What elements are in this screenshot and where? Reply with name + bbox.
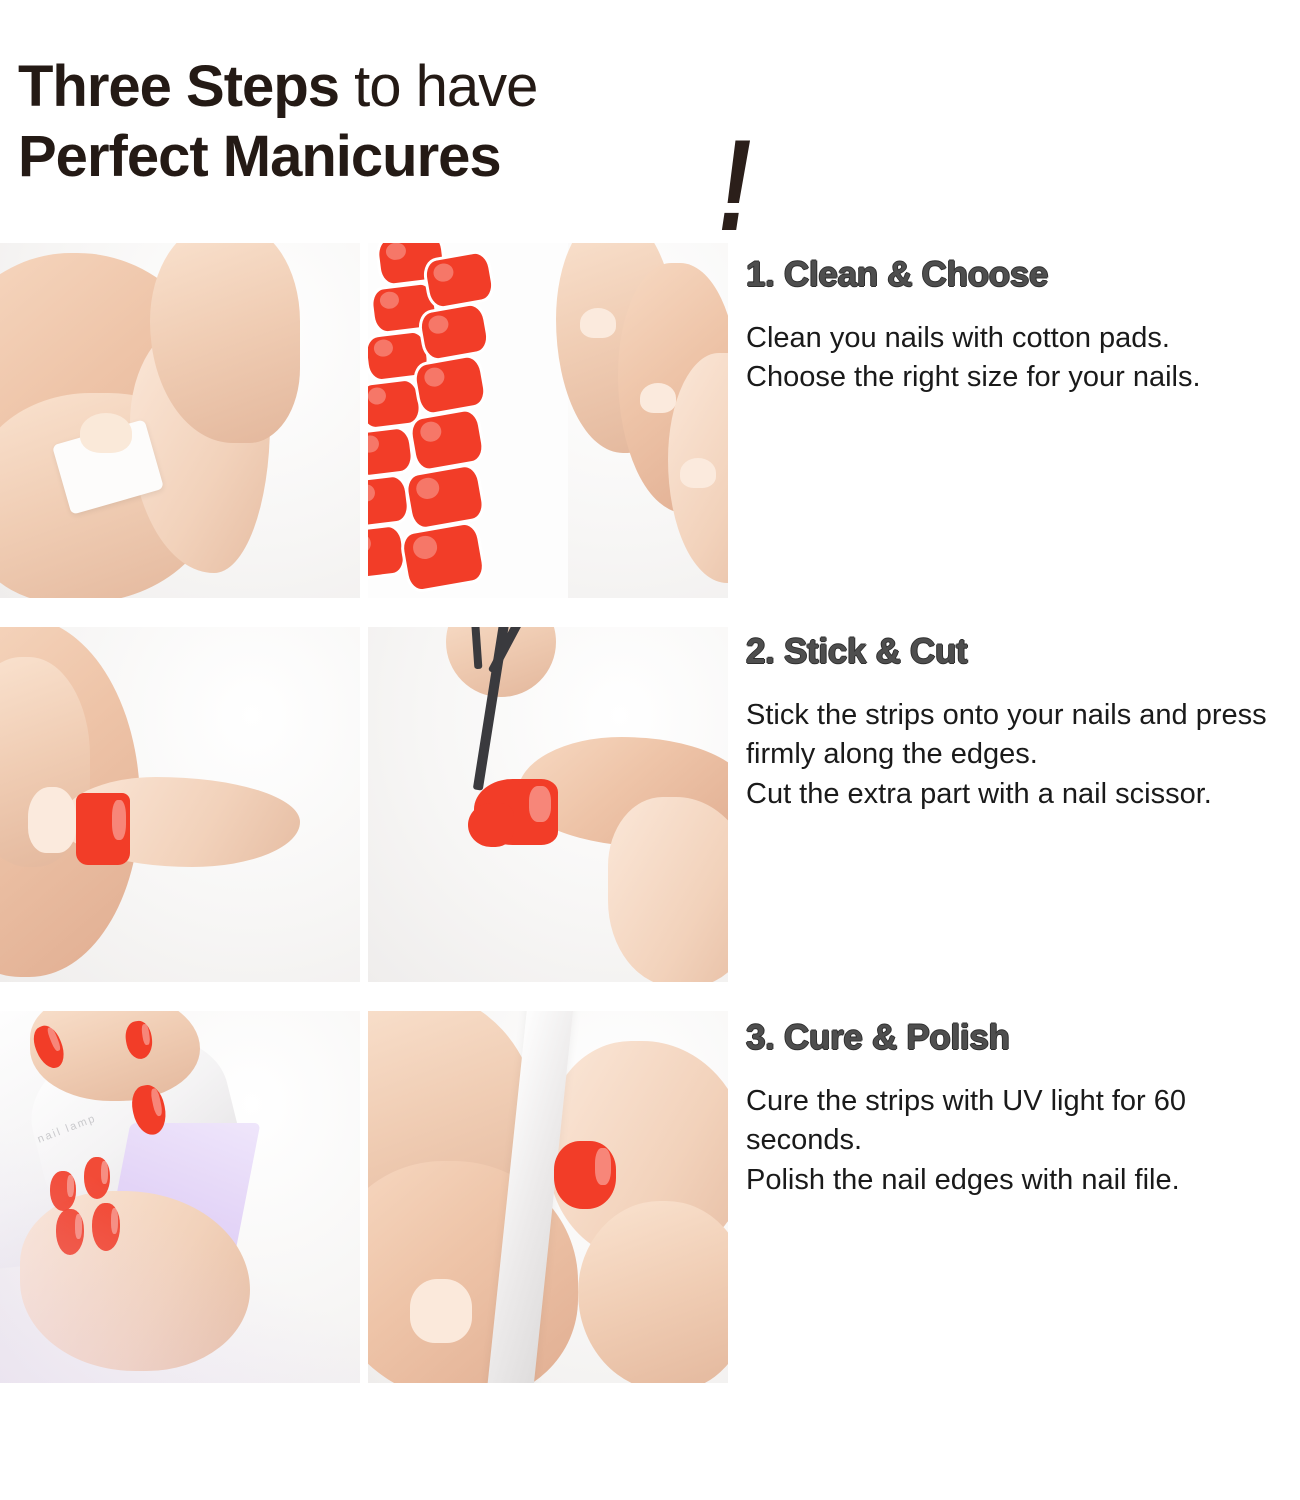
photo-grid: nail lamp <box>0 243 728 1383</box>
step-3-body: Cure the strips with UV light for 60 sec… <box>746 1082 1300 1200</box>
step-1-body: Clean you nails with cotton pads. Choose… <box>746 319 1300 398</box>
photo-polish-edges-with-file <box>368 1011 728 1383</box>
photo-cut-extra-with-scissor <box>368 627 728 982</box>
step-1-heading: 1. Clean & Choose <box>746 255 1300 295</box>
step-2-heading: 2. Stick & Cut <box>746 632 1300 672</box>
photo-stick-strip-on-nail <box>0 627 360 982</box>
step-block-1: 1. Clean & Choose Clean you nails with c… <box>746 255 1300 398</box>
photo-cure-under-uv-lamp: nail lamp <box>0 1011 360 1383</box>
step-2-body: Stick the strips onto your nails and pre… <box>746 696 1300 814</box>
page-title: Three Steps to have Perfect Manicures ! <box>18 58 838 208</box>
step-block-3: 3. Cure & Polish Cure the strips with UV… <box>746 1018 1300 1200</box>
exclamation-mark: ! <box>718 120 752 250</box>
step-3-heading: 3. Cure & Polish <box>746 1018 1300 1058</box>
photo-clean-with-cotton-pad <box>0 243 360 598</box>
title-line2-strong: Perfect Manicures <box>18 124 501 189</box>
title-line1-strong: Three Steps <box>18 54 339 119</box>
title-line1-light: to have <box>339 54 537 119</box>
step-block-2: 2. Stick & Cut Stick the strips onto you… <box>746 632 1300 814</box>
photo-choose-strip-size <box>368 243 728 598</box>
